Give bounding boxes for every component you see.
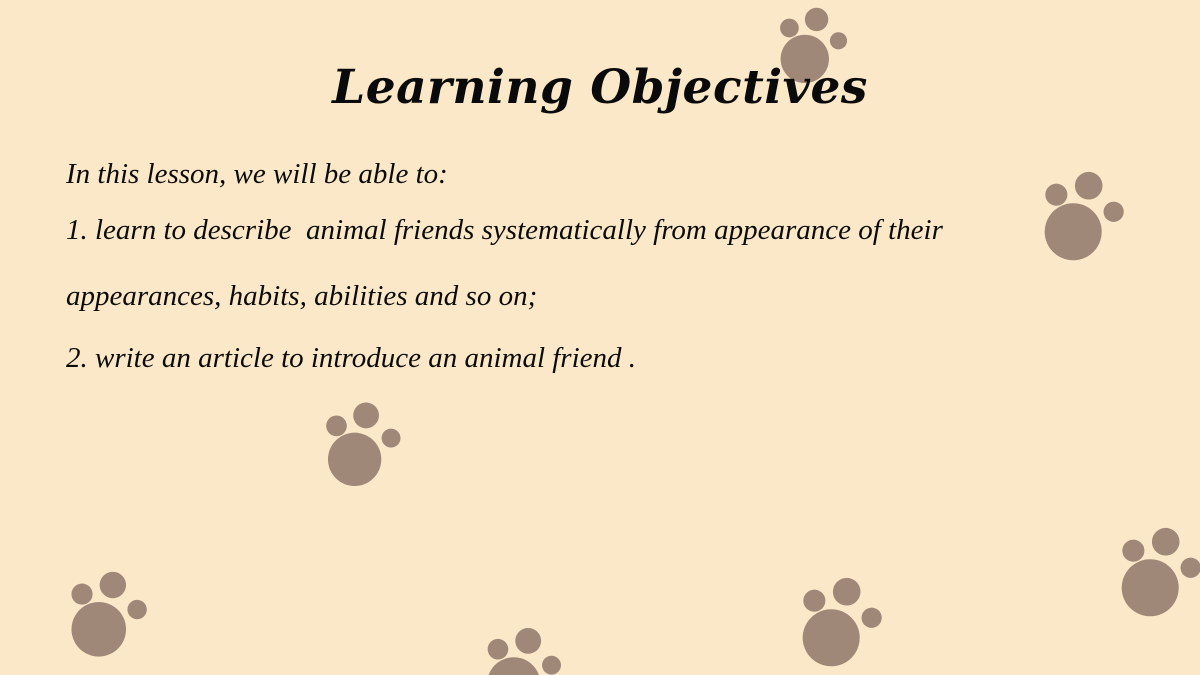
paw-toe — [541, 655, 562, 675]
learning-objectives-body: In this lesson, we will be able to: 1. l… — [66, 160, 1186, 410]
paw-toe — [126, 599, 148, 621]
paw-print-bottom-right — [1107, 523, 1200, 624]
paw-toe — [487, 638, 510, 661]
objective-1-line-2: appearances, habits, abilities and so on… — [66, 282, 1186, 344]
paw-pad — [324, 428, 386, 490]
paw-print-center-behind — [311, 396, 411, 496]
paw-toe — [779, 17, 800, 38]
page-title: Learning Objectives — [0, 62, 1200, 114]
paw-pad — [484, 655, 543, 675]
paw-pad — [68, 599, 129, 660]
paw-toe — [802, 589, 826, 613]
paw-print-bottom-clipped — [474, 624, 569, 675]
paw-toe — [1151, 527, 1181, 557]
paw-print-bottom-left — [57, 567, 155, 665]
paw-pad — [1119, 556, 1182, 619]
paw-toe — [325, 414, 349, 438]
paw-toe — [380, 427, 402, 449]
paw-toe — [98, 570, 127, 599]
paw-toe — [803, 6, 829, 32]
paw-print-bottom-center — [788, 573, 889, 674]
objective-item-2: 2. write an article to introduce an anim… — [66, 344, 1186, 410]
slide-canvas: Learning Objectives In this lesson, we w… — [0, 0, 1200, 675]
paw-toe — [832, 577, 862, 607]
objective-1-line-1: 1. learn to describe animal friends syst… — [66, 216, 1186, 282]
paw-toe — [1180, 557, 1200, 579]
objective-2-line-1: 2. write an article to introduce an anim… — [66, 344, 1186, 410]
paw-toe — [70, 582, 94, 606]
paw-toe — [861, 607, 883, 629]
paw-toe — [514, 627, 542, 655]
paw-toe — [829, 31, 848, 50]
lead-in-text: In this lesson, we will be able to: — [66, 160, 1186, 216]
objective-item-1: 1. learn to describe animal friends syst… — [66, 216, 1186, 344]
paw-pad — [800, 606, 863, 669]
paw-toe — [1121, 539, 1145, 563]
